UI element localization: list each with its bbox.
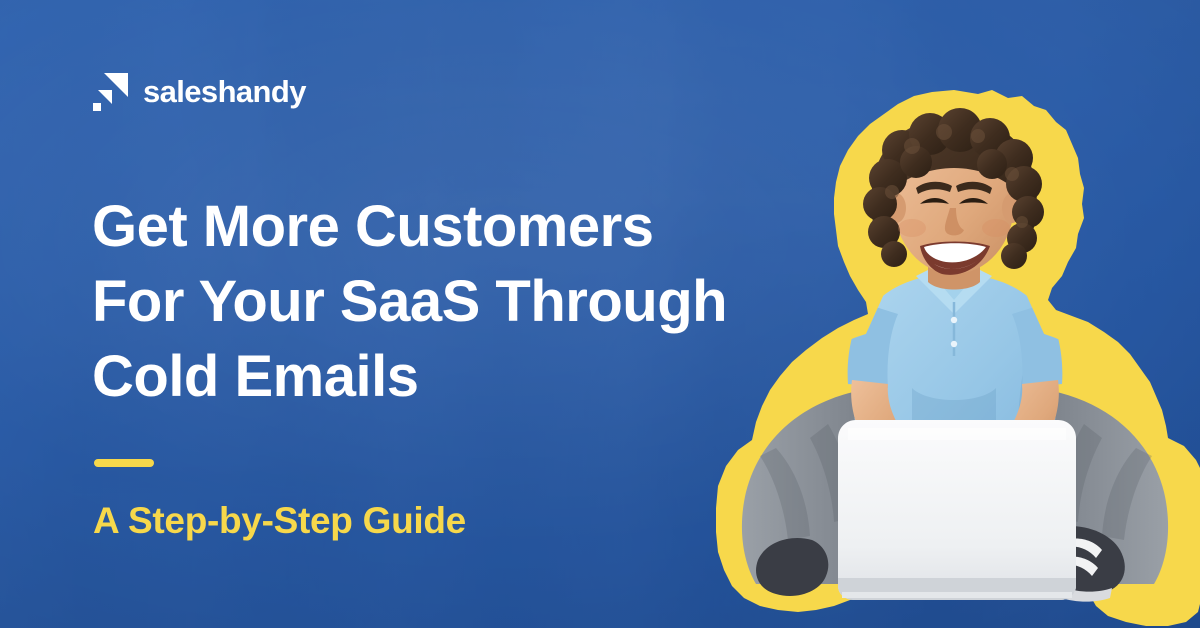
yellow-divider-rule [94, 459, 154, 467]
page-subtitle: A Step-by-Step Guide [93, 498, 466, 544]
brand-logo[interactable]: saleshandy [92, 70, 306, 112]
brand-wordmark: saleshandy [143, 76, 306, 107]
page-title: Get More Customers For Your SaaS Through… [92, 189, 822, 414]
laptop [838, 420, 1076, 600]
headline-line-1: Get More Customers [92, 189, 822, 264]
saleshandy-arrow-mark [92, 70, 130, 112]
cover-canvas: saleshandy Get More Customers For Your S… [0, 0, 1200, 628]
headline-line-2: For Your SaaS Through [92, 264, 822, 339]
headline-line-3: Cold Emails [92, 339, 822, 414]
